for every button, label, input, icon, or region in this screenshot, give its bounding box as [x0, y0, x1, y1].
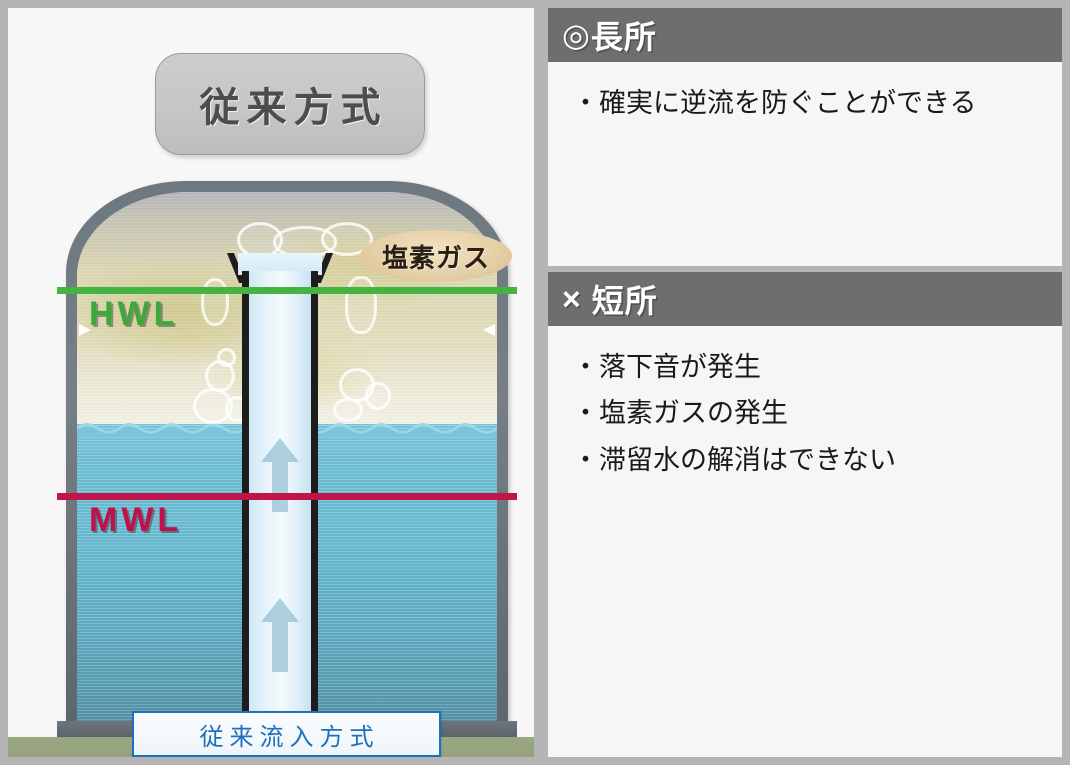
gas-bubble: [217, 348, 236, 367]
gas-bubble: [201, 278, 229, 326]
merits-panel: ◎ 長所 ・確実に逆流を防ぐことができる: [548, 8, 1062, 266]
inflow-method-caption: 従来流入方式: [132, 711, 441, 757]
list-item: ・落下音が発生: [572, 344, 1052, 390]
merits-panel-header: ◎ 長所: [548, 8, 1062, 62]
list-item: ・滞留水の解消はできない: [572, 437, 1052, 483]
wall-nozzle-right-icon: [483, 324, 495, 336]
chlorine-gas-label: 塩素ガス: [382, 238, 490, 275]
inflow-method-caption-label: 従来流入方式: [194, 717, 380, 752]
demerits-panel-header: × 短所: [548, 272, 1062, 326]
high-water-level-line: [57, 287, 517, 294]
up-arrow-icon: [261, 438, 299, 512]
reservoir-tank-illustration: HWL MWL 塩素ガス: [57, 181, 517, 751]
high-water-level-label: HWL: [89, 295, 178, 334]
cross-mark-icon: ×: [562, 281, 582, 318]
demerits-list: ・落下音が発生 ・塩素ガスの発生 ・滞留水の解消はできない: [548, 326, 1062, 493]
gas-bubble: [365, 382, 391, 410]
merits-list: ・確実に逆流を防ぐことができる: [548, 62, 1062, 136]
inflow-pipe: [242, 253, 318, 751]
conventional-method-diagram-panel: 従来方式: [8, 8, 534, 757]
list-item: ・塩素ガスの発生: [572, 390, 1052, 436]
up-arrow-icon: [261, 598, 299, 672]
medium-water-level-line: [57, 493, 517, 500]
gas-bubble: [333, 398, 363, 422]
medium-water-level-label: MWL: [89, 501, 182, 540]
merits-panel-title: 長所: [591, 12, 657, 58]
double-circle-icon: ◎: [562, 16, 591, 54]
gas-bubble: [345, 276, 377, 334]
scheme-title-badge: 従来方式: [155, 53, 425, 155]
demerits-panel-title: 短所: [592, 276, 658, 322]
scheme-title-label: 従来方式: [193, 75, 388, 133]
chlorine-gas-callout: 塩素ガス: [360, 230, 512, 282]
demerits-panel: × 短所 ・落下音が発生 ・塩素ガスの発生 ・滞留水の解消はできない: [548, 272, 1062, 757]
list-item: ・確実に逆流を防ぐことができる: [572, 80, 1052, 126]
